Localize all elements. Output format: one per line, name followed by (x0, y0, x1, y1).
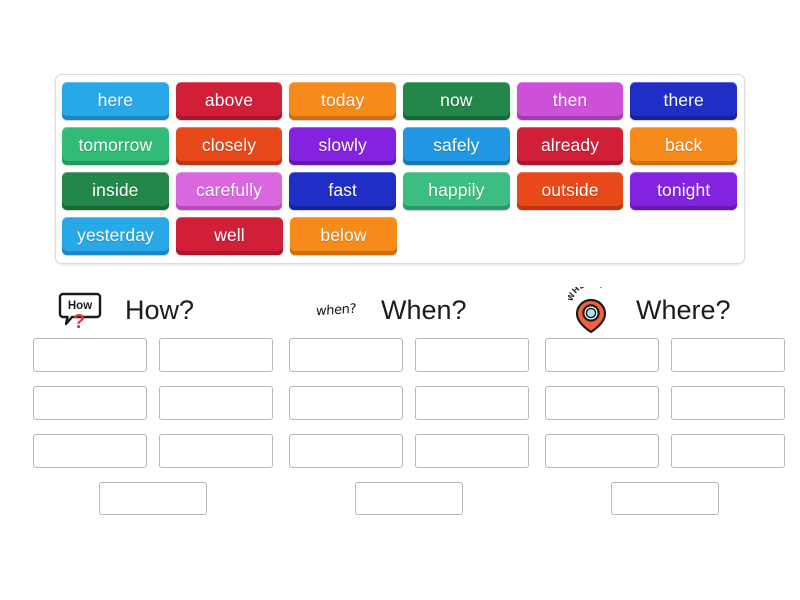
word-tile-already[interactable]: already (517, 127, 624, 165)
category-title-how: How? (125, 295, 194, 326)
svg-text:?: ? (73, 311, 85, 330)
word-tile-there[interactable]: there (630, 82, 737, 120)
drop-zone-where-5[interactable] (545, 434, 659, 468)
drop-zone-row (33, 386, 273, 420)
word-tile-row: tomorrowcloselyslowlysafelyalreadyback (62, 127, 744, 172)
word-bank-panel: hereabovetodaynowthentheretomorrowclosel… (55, 74, 745, 264)
word-tile-inside[interactable]: inside (62, 172, 169, 210)
word-tile-label: safely (433, 137, 479, 155)
drop-zone-where-2[interactable] (671, 338, 785, 372)
activity-stage: hereabovetodaynowthentheretomorrowclosel… (0, 0, 800, 600)
word-tile-now[interactable]: now (403, 82, 510, 120)
drop-zone-row (33, 338, 273, 372)
drop-zone-how-2[interactable] (159, 338, 273, 372)
drop-zone-row (33, 434, 273, 468)
word-tile-label: then (553, 92, 587, 110)
word-tile-yesterday[interactable]: yesterday (62, 217, 169, 255)
word-tile-label: now (440, 92, 472, 110)
word-tile-label: there (664, 92, 704, 110)
word-tile-label: outside (541, 182, 598, 200)
handwritten-when-icon-text: when? (316, 301, 356, 319)
drop-zone-column-how (33, 338, 273, 515)
word-tile-label: tomorrow (78, 137, 152, 155)
word-tile-safely[interactable]: safely (403, 127, 510, 165)
drop-zone-how-4[interactable] (159, 386, 273, 420)
word-tile-label: happily (428, 182, 484, 200)
word-tile-label: inside (92, 182, 138, 200)
drop-zone-row (289, 482, 529, 515)
drop-zone-row (545, 338, 785, 372)
drop-zone-how-3[interactable] (33, 386, 147, 420)
category-title-where: Where? (636, 295, 731, 326)
word-tile-label: here (98, 92, 133, 110)
drop-zone-when-4[interactable] (415, 386, 529, 420)
word-tile-label: closely (202, 137, 256, 155)
drop-zone-when-1[interactable] (289, 338, 403, 372)
drop-zone-when-7[interactable] (355, 482, 463, 515)
drop-zone-how-1[interactable] (33, 338, 147, 372)
word-tile-happily[interactable]: happily (403, 172, 510, 210)
drop-zone-row (289, 434, 529, 468)
drop-zone-row (545, 434, 785, 468)
drop-zone-when-5[interactable] (289, 434, 403, 468)
word-tile-label: below (320, 227, 366, 245)
word-tile-closely[interactable]: closely (176, 127, 283, 165)
word-tile-tonight[interactable]: tonight (630, 172, 737, 210)
word-tile-tomorrow[interactable]: tomorrow (62, 127, 169, 165)
word-tile-well[interactable]: well (176, 217, 283, 255)
drop-zone-where-7[interactable] (611, 482, 719, 515)
drop-zone-row (545, 386, 785, 420)
word-tile-outside[interactable]: outside (517, 172, 624, 210)
word-tile-label: already (541, 137, 599, 155)
drop-zone-how-5[interactable] (33, 434, 147, 468)
drop-zone-where-4[interactable] (671, 386, 785, 420)
drop-zone-where-3[interactable] (545, 386, 659, 420)
category-header-how: How ? How? (57, 286, 194, 334)
word-tile-here[interactable]: here (62, 82, 169, 120)
word-tile-back[interactable]: back (630, 127, 737, 165)
drop-zone-when-3[interactable] (289, 386, 403, 420)
drop-zone-column-when (289, 338, 529, 515)
word-tile-then[interactable]: then (517, 82, 624, 120)
word-tile-label: carefully (196, 182, 262, 200)
map-pin-where-icon: WHERE? (568, 287, 614, 333)
word-tile-label: fast (328, 182, 357, 200)
category-title-when: When? (381, 295, 467, 326)
word-tile-label: well (214, 227, 245, 245)
drop-zone-where-6[interactable] (671, 434, 785, 468)
drop-zone-when-2[interactable] (415, 338, 529, 372)
word-tile-below[interactable]: below (290, 217, 397, 255)
drop-zone-how-7[interactable] (99, 482, 207, 515)
drop-zone-when-6[interactable] (415, 434, 529, 468)
word-tile-row: yesterdaywellbelow (62, 217, 744, 262)
word-tile-label: today (321, 92, 364, 110)
word-tile-row: insidecarefullyfasthappilyoutsidetonight (62, 172, 744, 217)
word-tile-label: back (665, 137, 702, 155)
word-tile-today[interactable]: today (289, 82, 396, 120)
word-tile-row: hereabovetodaynowthenthere (62, 82, 744, 127)
word-tile-fast[interactable]: fast (289, 172, 396, 210)
drop-zone-row (545, 482, 785, 515)
drop-zone-column-where (545, 338, 785, 515)
word-tile-slowly[interactable]: slowly (289, 127, 396, 165)
drop-zone-row (33, 482, 273, 515)
category-header-when: when? When? (313, 286, 467, 334)
drop-zone-row (289, 338, 529, 372)
word-tile-label: above (205, 92, 253, 110)
drop-zone-row (289, 386, 529, 420)
word-tile-carefully[interactable]: carefully (176, 172, 283, 210)
drop-zone-where-1[interactable] (545, 338, 659, 372)
drop-zone-how-6[interactable] (159, 434, 273, 468)
category-header-where: WHERE? Where? (568, 286, 731, 334)
speech-bubble-how-question-icon: How ? (57, 287, 103, 333)
word-tile-label: yesterday (77, 227, 154, 245)
word-tile-label: tonight (657, 182, 710, 200)
handwritten-when-icon: when? (313, 287, 359, 333)
word-tile-above[interactable]: above (176, 82, 283, 120)
word-tile-label: slowly (319, 137, 367, 155)
